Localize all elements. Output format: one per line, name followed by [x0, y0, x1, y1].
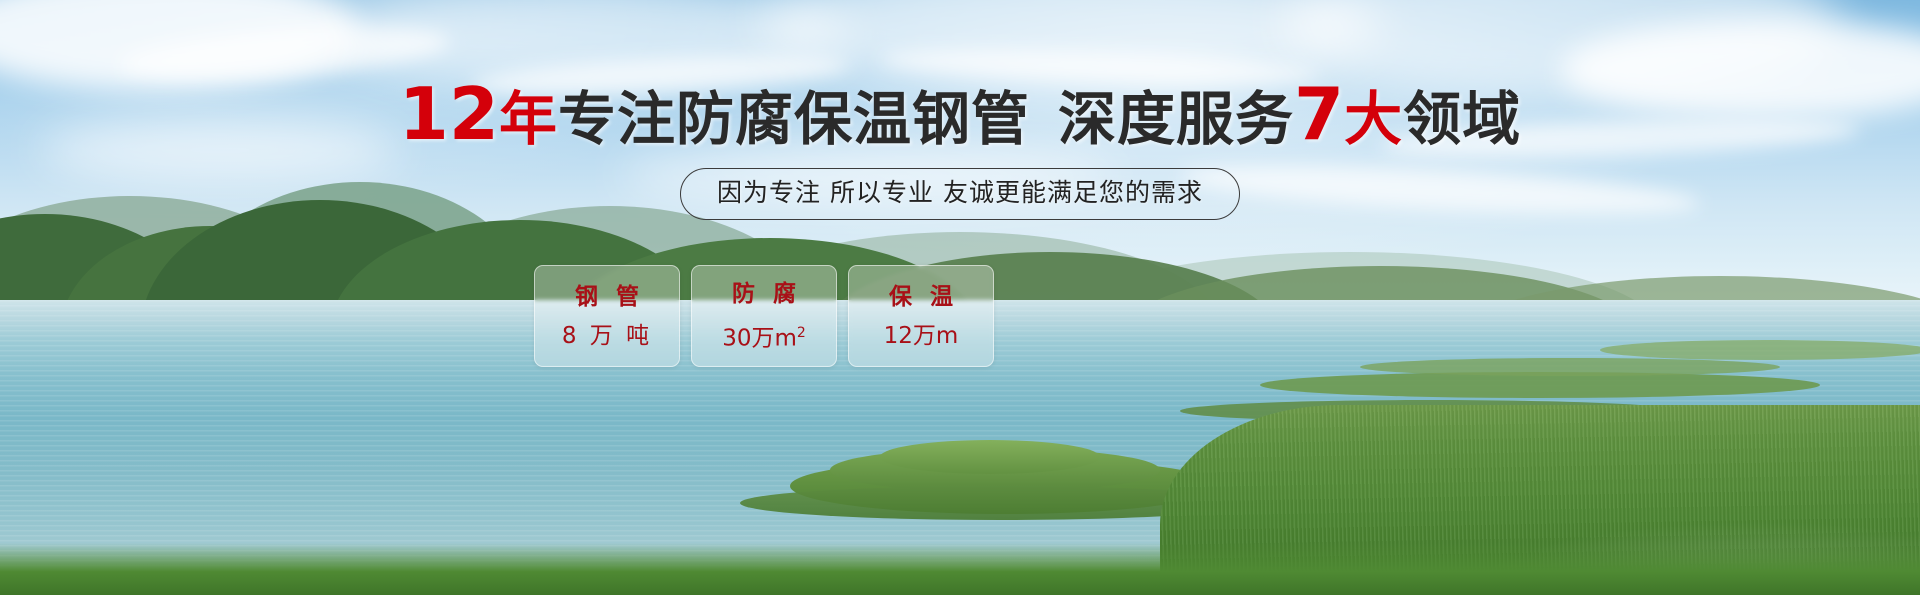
stat-card-value: 12万m: [884, 323, 959, 349]
stat-card-value: 30万m2: [722, 320, 806, 352]
stat-card-value-superscript: 2: [797, 325, 806, 341]
stat-card-anticorrosion[interactable]: 防 腐 30万m2: [691, 265, 837, 367]
headline-years-unit: 年: [499, 85, 558, 153]
grass-field-bottom: [0, 543, 1920, 595]
stat-card-value-base: 30万m: [722, 326, 797, 352]
stat-card-value-base: 12万m: [884, 323, 959, 349]
subtitle-container: 因为专注 所以专业 友诚更能满足您的需求: [0, 168, 1920, 220]
headline-middle-text: 专注防腐保温钢管: [558, 85, 1030, 153]
grass-islet: [880, 440, 1100, 474]
subtitle-pill: 因为专注 所以专业 友诚更能满足您的需求: [680, 168, 1240, 220]
stat-card-value: 8 万 吨: [562, 323, 652, 349]
headline-years-number: 12: [399, 72, 499, 156]
headline: 12年专注防腐保温钢管深度服务7大领域: [0, 82, 1920, 151]
stat-card-label: 保 温: [884, 283, 958, 311]
hero-banner: 12年专注防腐保温钢管深度服务7大领域 因为专注 所以专业 友诚更能满足您的需求…: [0, 0, 1920, 595]
marsh-strip: [1360, 358, 1780, 376]
stat-card-label: 钢 管: [570, 283, 644, 311]
headline-tail-text: 领域: [1403, 85, 1521, 153]
headline-fields-unit: 大: [1344, 85, 1403, 153]
stat-card-group: 钢 管 8 万 吨 防 腐 30万m2 保 温 12万m: [534, 265, 994, 367]
stat-card-value-base: 8 万 吨: [562, 323, 652, 349]
stat-card-insulation[interactable]: 保 温 12万m: [848, 265, 994, 367]
headline-tail-lead: 深度服务: [1058, 85, 1294, 153]
headline-fields-number: 7: [1294, 72, 1344, 156]
stat-card-steel-pipe[interactable]: 钢 管 8 万 吨: [534, 265, 680, 367]
stat-card-label: 防 腐: [727, 280, 801, 308]
marsh-strip: [1600, 340, 1920, 360]
